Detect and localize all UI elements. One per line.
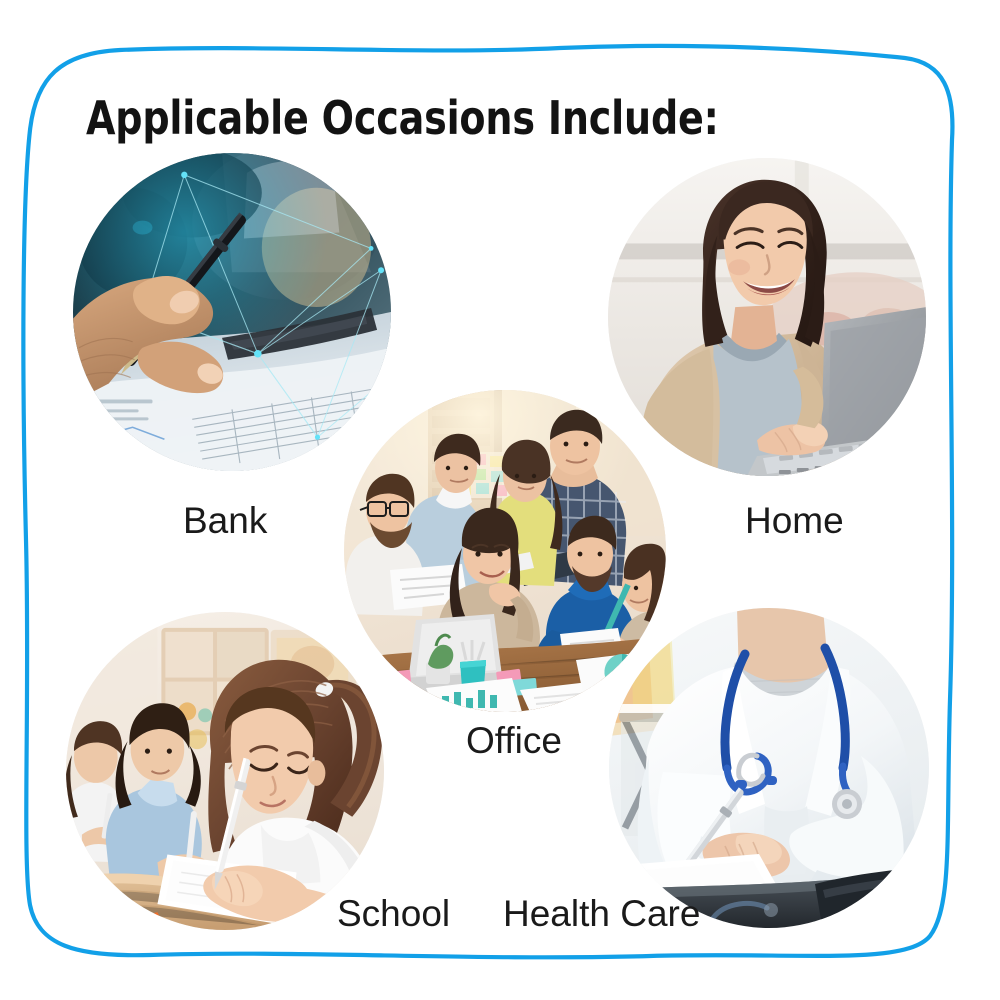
healthcare-photo-circle — [609, 608, 929, 928]
bank-photo-circle — [73, 153, 391, 471]
page-title: Applicable Occasions Include: — [86, 95, 719, 141]
school-photo-circle — [66, 612, 384, 930]
label-bank: Bank — [183, 502, 267, 539]
home-photo-circle — [608, 158, 926, 476]
label-home: Home — [745, 502, 844, 539]
label-healthcare: Health Care — [503, 895, 700, 932]
label-office: Office — [466, 722, 562, 759]
office-photo-circle — [344, 390, 666, 712]
label-school: School — [337, 895, 450, 932]
poster-canvas: Applicable Occasions Include: — [0, 0, 1000, 1000]
